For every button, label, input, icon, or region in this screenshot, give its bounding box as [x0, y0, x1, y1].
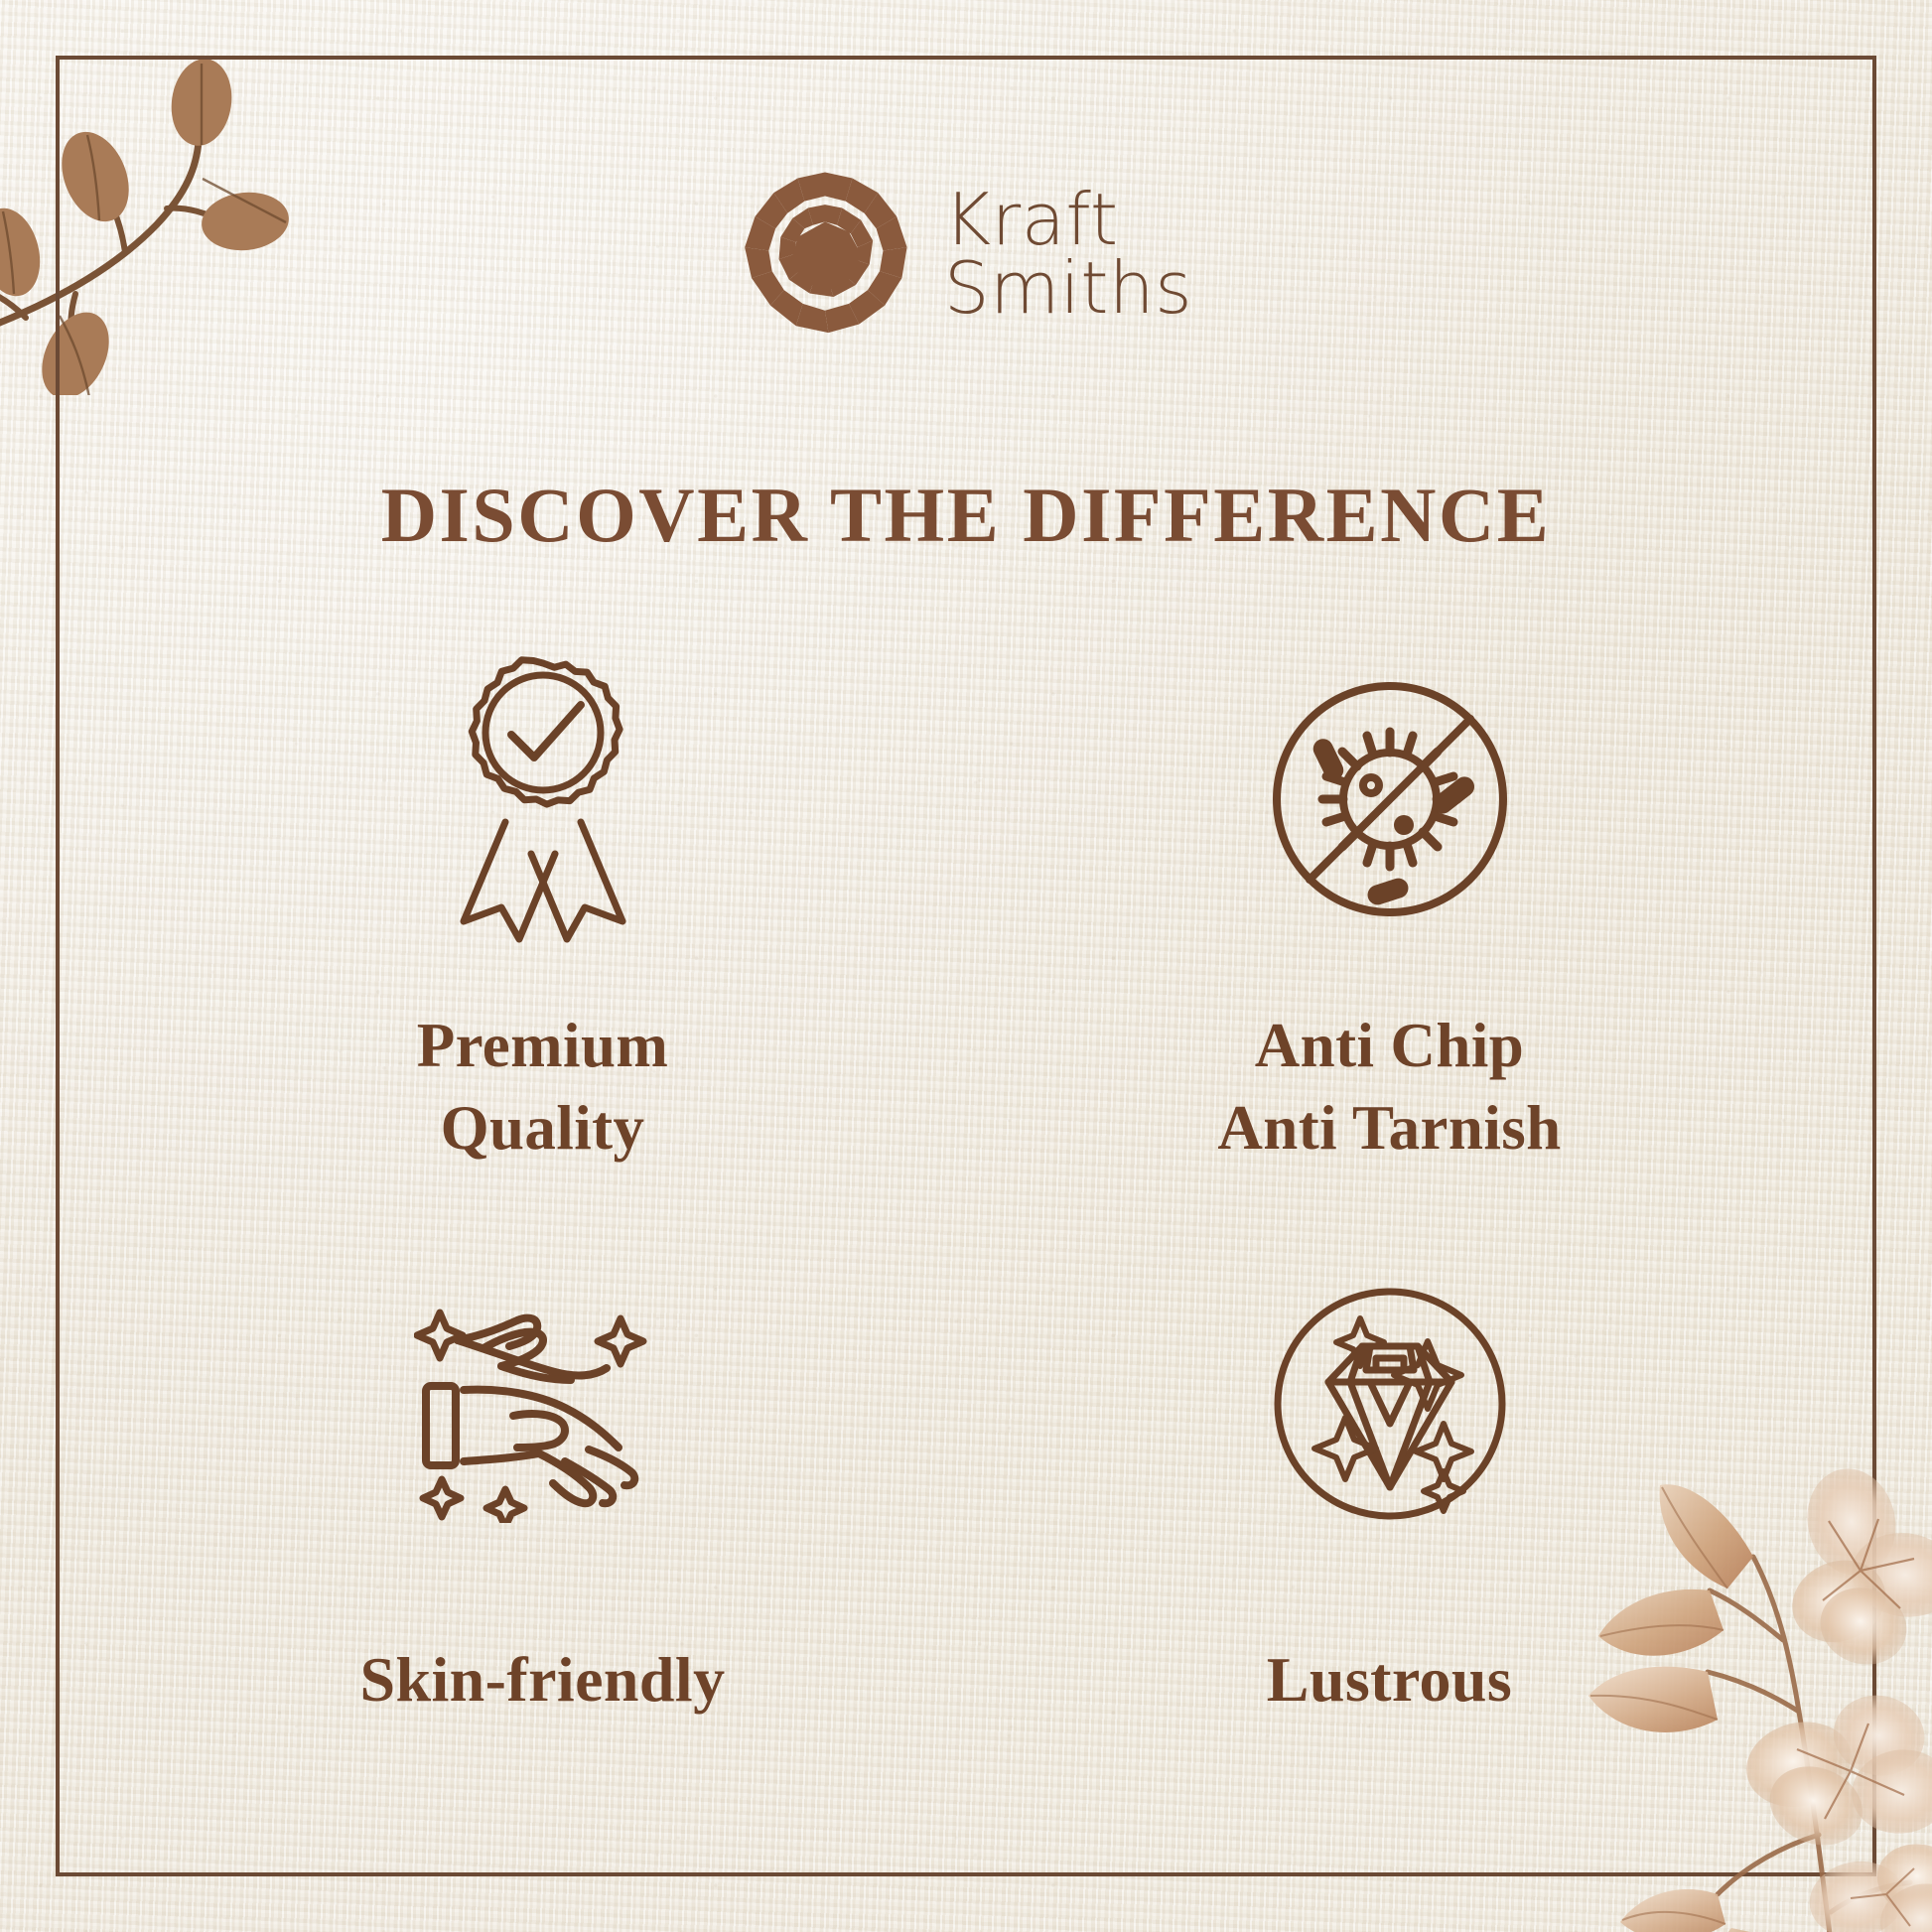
feature-lustrous: Lustrous: [966, 1255, 1813, 1722]
sparkling-diamond-circle-icon: [1267, 1281, 1513, 1527]
brand-name-line2: Smiths: [944, 254, 1192, 323]
feature-grid: Premium Quality: [119, 635, 1813, 1723]
gentle-hands-sparkle-icon: [414, 1285, 672, 1523]
brand-wordmark: Kraft Smiths: [944, 186, 1192, 323]
feature-anti-chip-anti-tarnish: Anti Chip Anti Tarnish: [966, 635, 1813, 1170]
feature-label-line1: Anti Chip: [1217, 1005, 1561, 1087]
feature-icon-wrap: [1267, 1255, 1513, 1553]
feature-premium-quality: Premium Quality: [119, 635, 966, 1170]
feature-label: Premium Quality: [417, 1005, 669, 1170]
feature-label-line1: Skin-friendly: [360, 1638, 726, 1722]
brand-logo: Kraft Smiths: [0, 169, 1932, 340]
award-ribbon-check-icon: [436, 655, 649, 943]
feature-label-line1: Lustrous: [1267, 1638, 1512, 1722]
feature-icon-wrap: [436, 635, 649, 963]
feature-label: Lustrous: [1267, 1638, 1512, 1722]
feature-label: Skin-friendly: [360, 1638, 726, 1722]
feature-label-line1: Premium: [417, 1005, 669, 1087]
feature-icon-wrap: [1267, 635, 1513, 963]
feature-label-line2: Anti Tarnish: [1217, 1087, 1561, 1170]
feature-icon-wrap: [414, 1255, 672, 1553]
feature-label: Anti Chip Anti Tarnish: [1217, 1005, 1561, 1170]
brand-name-line1: Kraft: [944, 186, 1192, 254]
feature-label-line2: Quality: [417, 1087, 669, 1170]
feature-skin-friendly: Skin-friendly: [119, 1255, 966, 1722]
poster-canvas: Kraft Smiths DISCOVER THE DIFFERENCE: [0, 0, 1932, 1932]
no-bacteria-icon: [1267, 676, 1513, 922]
faceted-gem-icon: [740, 169, 910, 340]
page-title: DISCOVER THE DIFFERENCE: [0, 471, 1932, 560]
